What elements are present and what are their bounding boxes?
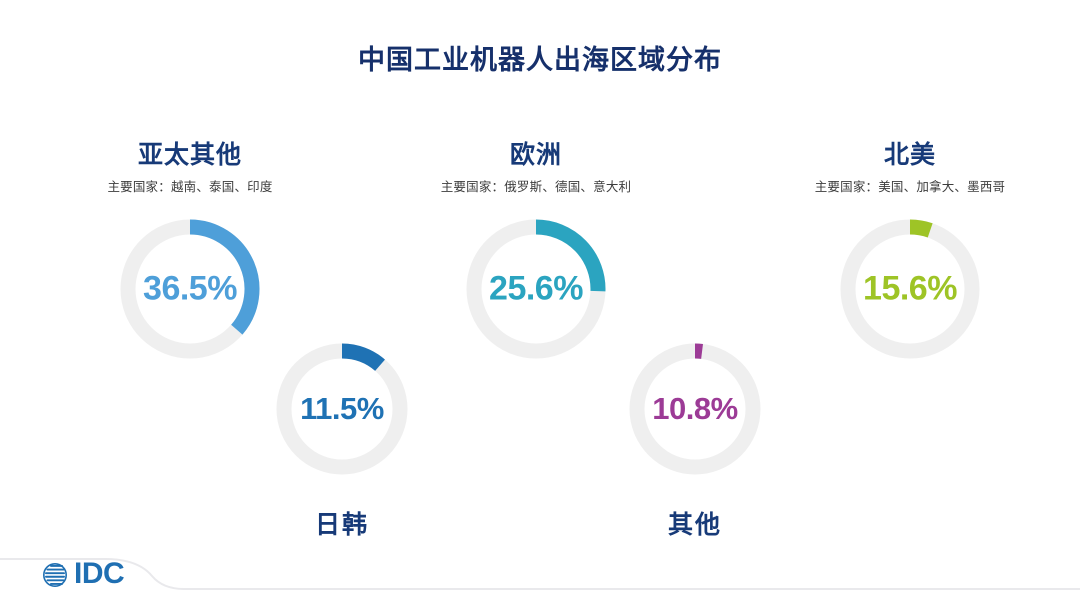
- donut-chart-other[interactable]: 10.8%: [626, 340, 764, 478]
- donut-group-other: 10.8% 其他: [560, 340, 830, 541]
- footer-divider: [0, 547, 1080, 607]
- group-title-japan-korea: 日韩: [207, 505, 477, 541]
- donut-group-north-america: 北美 主要国家：美国、加拿大、墨西哥 15.6%: [764, 142, 1056, 363]
- donut-arc-japan-korea: [342, 351, 380, 365]
- donut-value-other: 10.8%: [652, 391, 737, 427]
- group-title-europe: 欧洲: [390, 142, 682, 170]
- group-header-europe: 欧洲 主要国家：俄罗斯、德国、意大利: [390, 142, 682, 195]
- donut-value-japan-korea: 11.5%: [300, 391, 384, 427]
- donut-group-japan-korea: 11.5% 日韩: [207, 340, 477, 541]
- donut-group-europe: 欧洲 主要国家：俄罗斯、德国、意大利 25.6%: [390, 142, 682, 363]
- group-subtitle-north-america: 主要国家：美国、加拿大、墨西哥: [764, 176, 1056, 195]
- group-header-north-america: 北美 主要国家：美国、加拿大、墨西哥: [764, 142, 1056, 195]
- group-title-asia-pacific-other: 亚太其他: [44, 142, 336, 170]
- group-title-other: 其他: [560, 505, 830, 541]
- donut-value-north-america: 15.6%: [863, 269, 957, 308]
- group-subtitle-asia-pacific-other: 主要国家：越南、泰国、印度: [44, 176, 336, 195]
- donut-value-europe: 25.6%: [489, 269, 583, 308]
- page-title: 中国工业机器人出海区域分布: [0, 38, 1080, 77]
- idc-logo-text: IDC: [74, 559, 124, 589]
- donut-chart-north-america[interactable]: 15.6%: [836, 215, 984, 363]
- group-title-north-america: 北美: [764, 142, 1056, 170]
- donut-group-asia-pacific-other: 亚太其他 主要国家：越南、泰国、印度 36.5%: [44, 142, 336, 363]
- slide-canvas: 中国工业机器人出海区域分布 亚太其他 主要国家：越南、泰国、印度 36.5% 欧…: [0, 0, 1080, 607]
- donut-chart-japan-korea[interactable]: 11.5%: [273, 340, 411, 478]
- group-header-asia-pacific-other: 亚太其他 主要国家：越南、泰国、印度: [44, 142, 336, 195]
- idc-logo: IDC: [42, 559, 124, 589]
- donut-arc-north-america: [910, 227, 930, 230]
- idc-globe-icon: [42, 559, 72, 589]
- donut-value-asia-pacific-other: 36.5%: [143, 269, 237, 308]
- group-subtitle-europe: 主要国家：俄罗斯、德国、意大利: [390, 176, 682, 195]
